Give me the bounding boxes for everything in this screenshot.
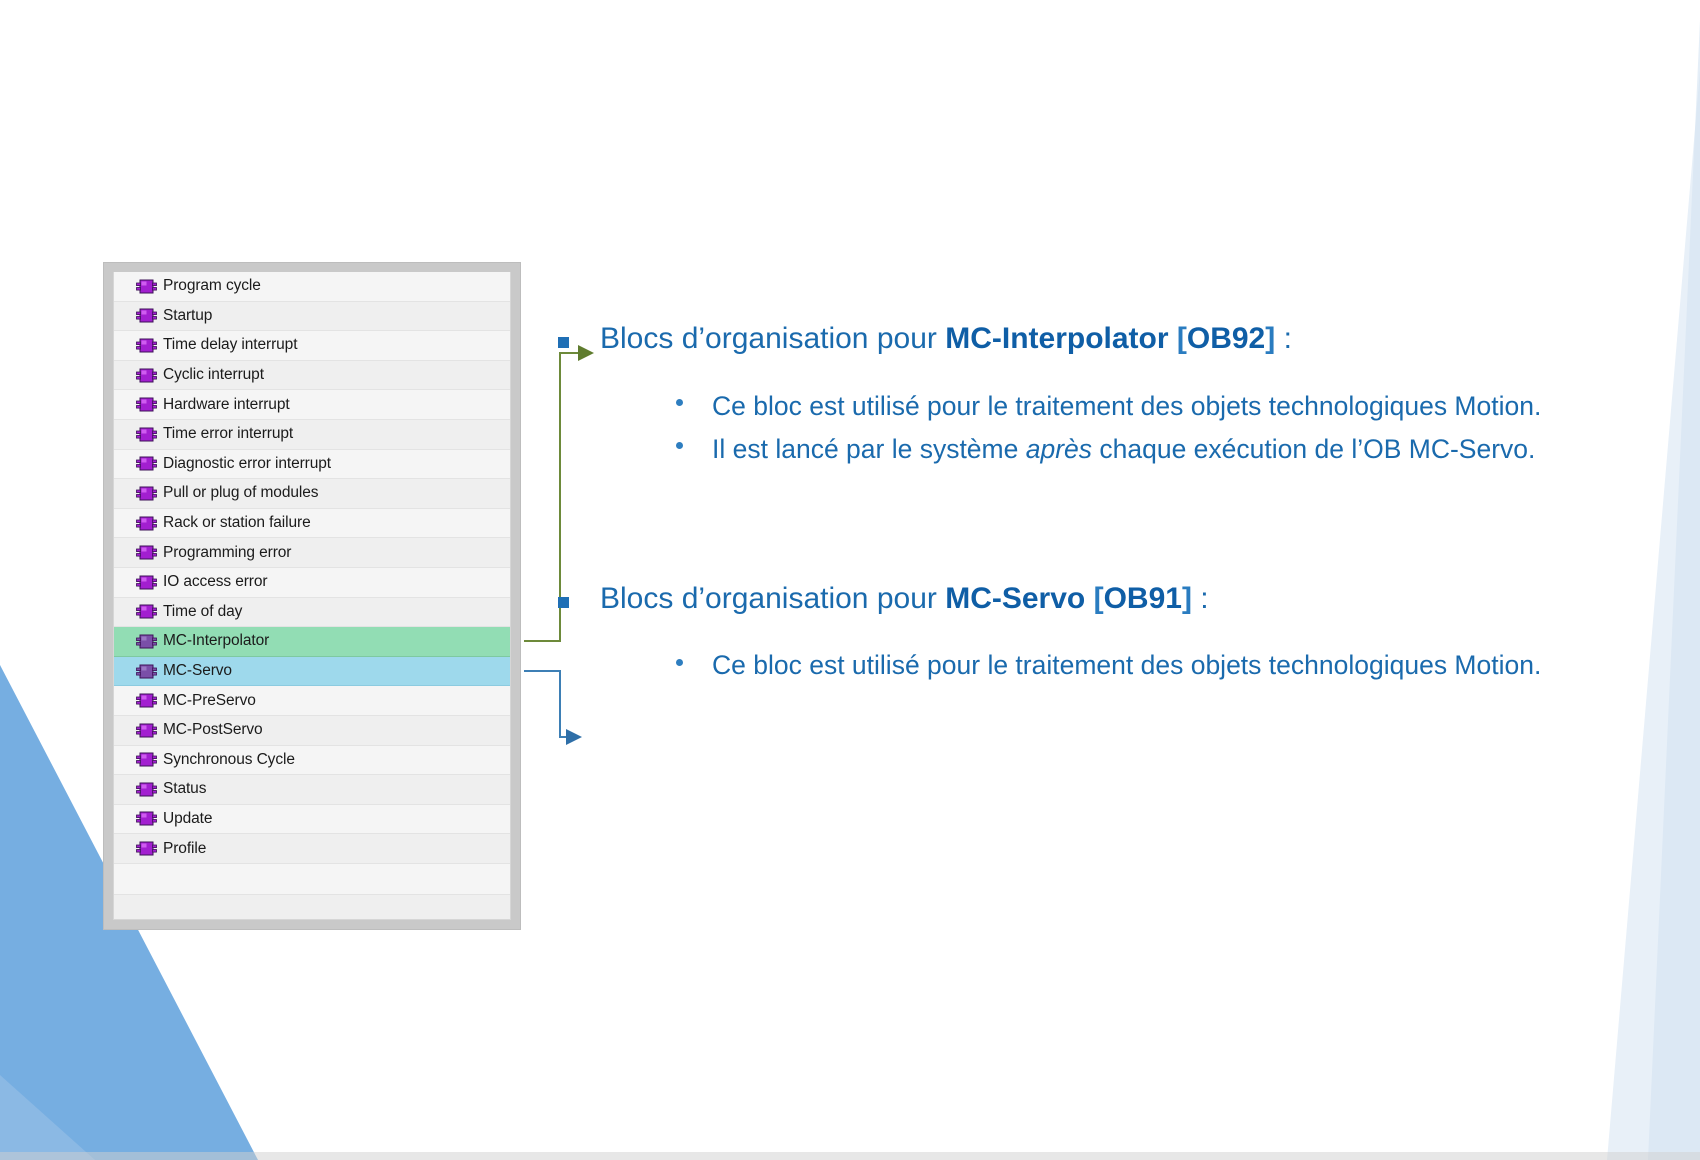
ob-list-item-label: Hardware interrupt <box>163 396 290 414</box>
round-bullet-icon <box>676 659 683 666</box>
heading-bracket-open: [ <box>1169 322 1187 355</box>
ob-list-item-label: Update <box>163 810 212 828</box>
ob-list-item[interactable]: Time delay interrupt <box>114 331 510 361</box>
ob-list-item[interactable]: Pull or plug of modules <box>114 479 510 509</box>
heading-block-name: MC-Servo <box>945 582 1085 615</box>
organization-block-icon <box>136 575 157 590</box>
organization-blocks-list[interactable]: Program cycleStartupTime delay interrupt… <box>113 272 511 920</box>
heading-prefix: Blocs d’organisation pour <box>600 322 945 355</box>
organization-block-icon <box>136 723 157 738</box>
organization-block-icon <box>136 782 157 797</box>
ob-list-item[interactable]: Update <box>114 805 510 835</box>
square-bullet-icon <box>558 597 569 608</box>
heading-suffix: : <box>1275 322 1292 355</box>
bullet-item: Ce bloc est utilisé pour le traitement d… <box>672 645 1610 686</box>
organization-block-icon <box>136 693 157 708</box>
section-spacer <box>600 472 1610 580</box>
ob-list-item[interactable]: Programming error <box>114 538 510 568</box>
ob-list-item[interactable]: MC-PostServo <box>114 716 510 746</box>
organization-block-icon <box>136 279 157 294</box>
organization-block-icon <box>136 397 157 412</box>
organization-block-icon <box>136 811 157 826</box>
organization-block-icon <box>136 427 157 442</box>
ob-list-item-label: Program cycle <box>163 277 261 295</box>
organization-block-icon <box>136 604 157 619</box>
bullet-text: Ce bloc est utilisé pour le traitement d… <box>712 391 1541 421</box>
ob-list-item-label: Time delay interrupt <box>163 336 297 354</box>
ob-list-item[interactable]: Diagnostic error interrupt <box>114 450 510 480</box>
ob-list-item-label: Startup <box>163 307 212 325</box>
bullet-text-cont: chaque exécution de l’OB MC-Servo. <box>1092 434 1535 464</box>
section-heading: Blocs d’organisation pour MC-Interpolato… <box>600 320 1610 358</box>
section-bullet-list: Ce bloc est utilisé pour le traitement d… <box>672 386 1610 470</box>
section-bullet-list: Ce bloc est utilisé pour le traitement d… <box>672 645 1610 686</box>
ob-list-item-label: MC-Servo <box>163 662 232 680</box>
organization-block-icon <box>136 456 157 471</box>
ob-list-item[interactable]: Startup <box>114 302 510 332</box>
ob-list-item-label: Time of day <box>163 603 242 621</box>
heading-ob-number: OB91 <box>1104 582 1182 615</box>
bullet-emphasis: après <box>1026 434 1092 464</box>
ob-list-empty-row <box>114 864 510 895</box>
ob-list-item-label: Cyclic interrupt <box>163 366 264 384</box>
organization-block-icon <box>136 308 157 323</box>
ob-list-item[interactable]: MC-Interpolator <box>114 627 510 657</box>
slide-body: Blocs d’organisation pour MC-Interpolato… <box>600 320 1610 688</box>
ob-list-item-label: Programming error <box>163 544 291 562</box>
organization-block-icon <box>136 664 157 679</box>
ob-list-item[interactable]: Synchronous Cycle <box>114 746 510 776</box>
organization-block-icon <box>136 516 157 531</box>
round-bullet-icon <box>676 399 683 406</box>
ob-list-item-label: Pull or plug of modules <box>163 484 318 502</box>
ob-list-item-label: Time error interrupt <box>163 425 293 443</box>
organization-block-icon <box>136 338 157 353</box>
bullet-item: Il est lancé par le système après chaque… <box>672 429 1610 470</box>
heading-bracket-open: [ <box>1085 582 1103 615</box>
ob-list-item-label: MC-PreServo <box>163 692 256 710</box>
ob-list-item[interactable]: Cyclic interrupt <box>114 361 510 391</box>
square-bullet-icon <box>558 337 569 348</box>
ob-list-item-label: Profile <box>163 840 206 858</box>
organization-block-icon <box>136 841 157 856</box>
ob-list-item-label: Rack or station failure <box>163 514 311 532</box>
ob-list-item[interactable]: Hardware interrupt <box>114 390 510 420</box>
deco-baseline <box>0 1152 1700 1160</box>
ob-list-item-label: Synchronous Cycle <box>163 751 295 769</box>
ob-list-item[interactable]: MC-PreServo <box>114 686 510 716</box>
ob-list-empty-area <box>114 895 510 919</box>
ob-list-item[interactable]: Rack or station failure <box>114 509 510 539</box>
deco-wedge-right-2 <box>1648 20 1700 1160</box>
ob-list-item-label: MC-Interpolator <box>163 632 269 650</box>
organization-block-icon <box>136 634 157 649</box>
ob-list-item[interactable]: Time error interrupt <box>114 420 510 450</box>
heading-bracket-close: ] <box>1265 322 1275 355</box>
deco-wedge-right <box>1607 0 1700 1160</box>
heading-ob-number: OB92 <box>1187 322 1265 355</box>
arrow-mc-servo <box>524 671 580 737</box>
organization-blocks-panel: Program cycleStartupTime delay interrupt… <box>103 262 521 930</box>
bullet-text: Il est lancé par le système <box>712 434 1026 464</box>
ob-list-item-label: MC-PostServo <box>163 721 263 739</box>
section-heading: Blocs d’organisation pour MC-Servo [OB91… <box>600 580 1610 618</box>
heading-block-name: MC-Interpolator <box>945 322 1168 355</box>
ob-list-item-label: Diagnostic error interrupt <box>163 455 331 473</box>
round-bullet-icon <box>676 442 683 449</box>
ob-list-item[interactable]: Time of day <box>114 598 510 628</box>
organization-block-icon <box>136 486 157 501</box>
content-section: Blocs d’organisation pour MC-Interpolato… <box>600 320 1610 470</box>
organization-block-icon <box>136 545 157 560</box>
ob-list-item[interactable]: Profile <box>114 834 510 864</box>
ob-list-item[interactable]: Status <box>114 775 510 805</box>
heading-bracket-close: ] <box>1182 582 1192 615</box>
organization-block-icon <box>136 368 157 383</box>
heading-prefix: Blocs d’organisation pour <box>600 582 945 615</box>
ob-list-item[interactable]: Program cycle <box>114 272 510 302</box>
heading-suffix: : <box>1192 582 1209 615</box>
ob-list-item-label: IO access error <box>163 573 267 591</box>
ob-list-item[interactable]: MC-Servo <box>114 657 510 687</box>
bullet-item: Ce bloc est utilisé pour le traitement d… <box>672 386 1610 427</box>
organization-block-icon <box>136 752 157 767</box>
content-section: Blocs d’organisation pour MC-Servo [OB91… <box>600 580 1610 687</box>
ob-list-item[interactable]: IO access error <box>114 568 510 598</box>
ob-list-item-label: Status <box>163 780 206 798</box>
bullet-text: Ce bloc est utilisé pour le traitement d… <box>712 650 1541 680</box>
